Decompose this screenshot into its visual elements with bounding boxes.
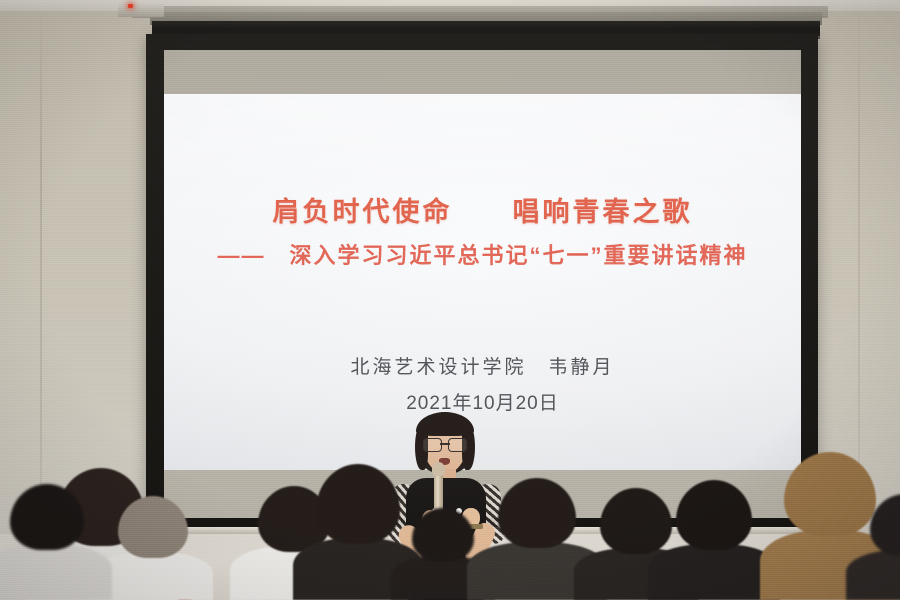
head-grey-hair <box>118 490 188 600</box>
audience-head <box>676 480 752 550</box>
head-left-edge-dark <box>10 478 84 600</box>
audience-head <box>498 478 576 548</box>
audience-head <box>784 452 876 536</box>
audience-head <box>600 488 672 554</box>
audience-head <box>316 464 400 544</box>
audience-head <box>870 494 900 556</box>
head-suit-man <box>498 472 576 600</box>
slide-subtitle: —— 深入学习习近平总书记“七一”重要讲话精神 <box>217 238 747 270</box>
audience-row <box>0 470 900 600</box>
slide-title: 肩负时代使命 唱响青春之歌 <box>273 190 693 229</box>
head-right-dark-2 <box>676 474 752 600</box>
power-led-icon <box>128 4 133 8</box>
lecture-hall-photo: 肩负时代使命 唱响青春之歌 —— 深入学习习近平总书记“七一”重要讲话精神 北海… <box>0 0 900 600</box>
audience-head <box>118 496 188 558</box>
audience-head <box>412 508 474 562</box>
screen-mount-bracket <box>118 3 164 17</box>
audience-head <box>10 484 84 550</box>
head-long-hair-woman <box>316 458 400 600</box>
head-center-dark <box>412 502 474 600</box>
slide-presenter: 北海艺术设计学院 韦静月 <box>350 352 614 379</box>
head-far-right-edge <box>870 488 900 600</box>
slide-date: 2021年10月20日 <box>406 388 559 415</box>
audience-shoulders <box>0 544 112 600</box>
glasses-icon <box>423 438 467 450</box>
